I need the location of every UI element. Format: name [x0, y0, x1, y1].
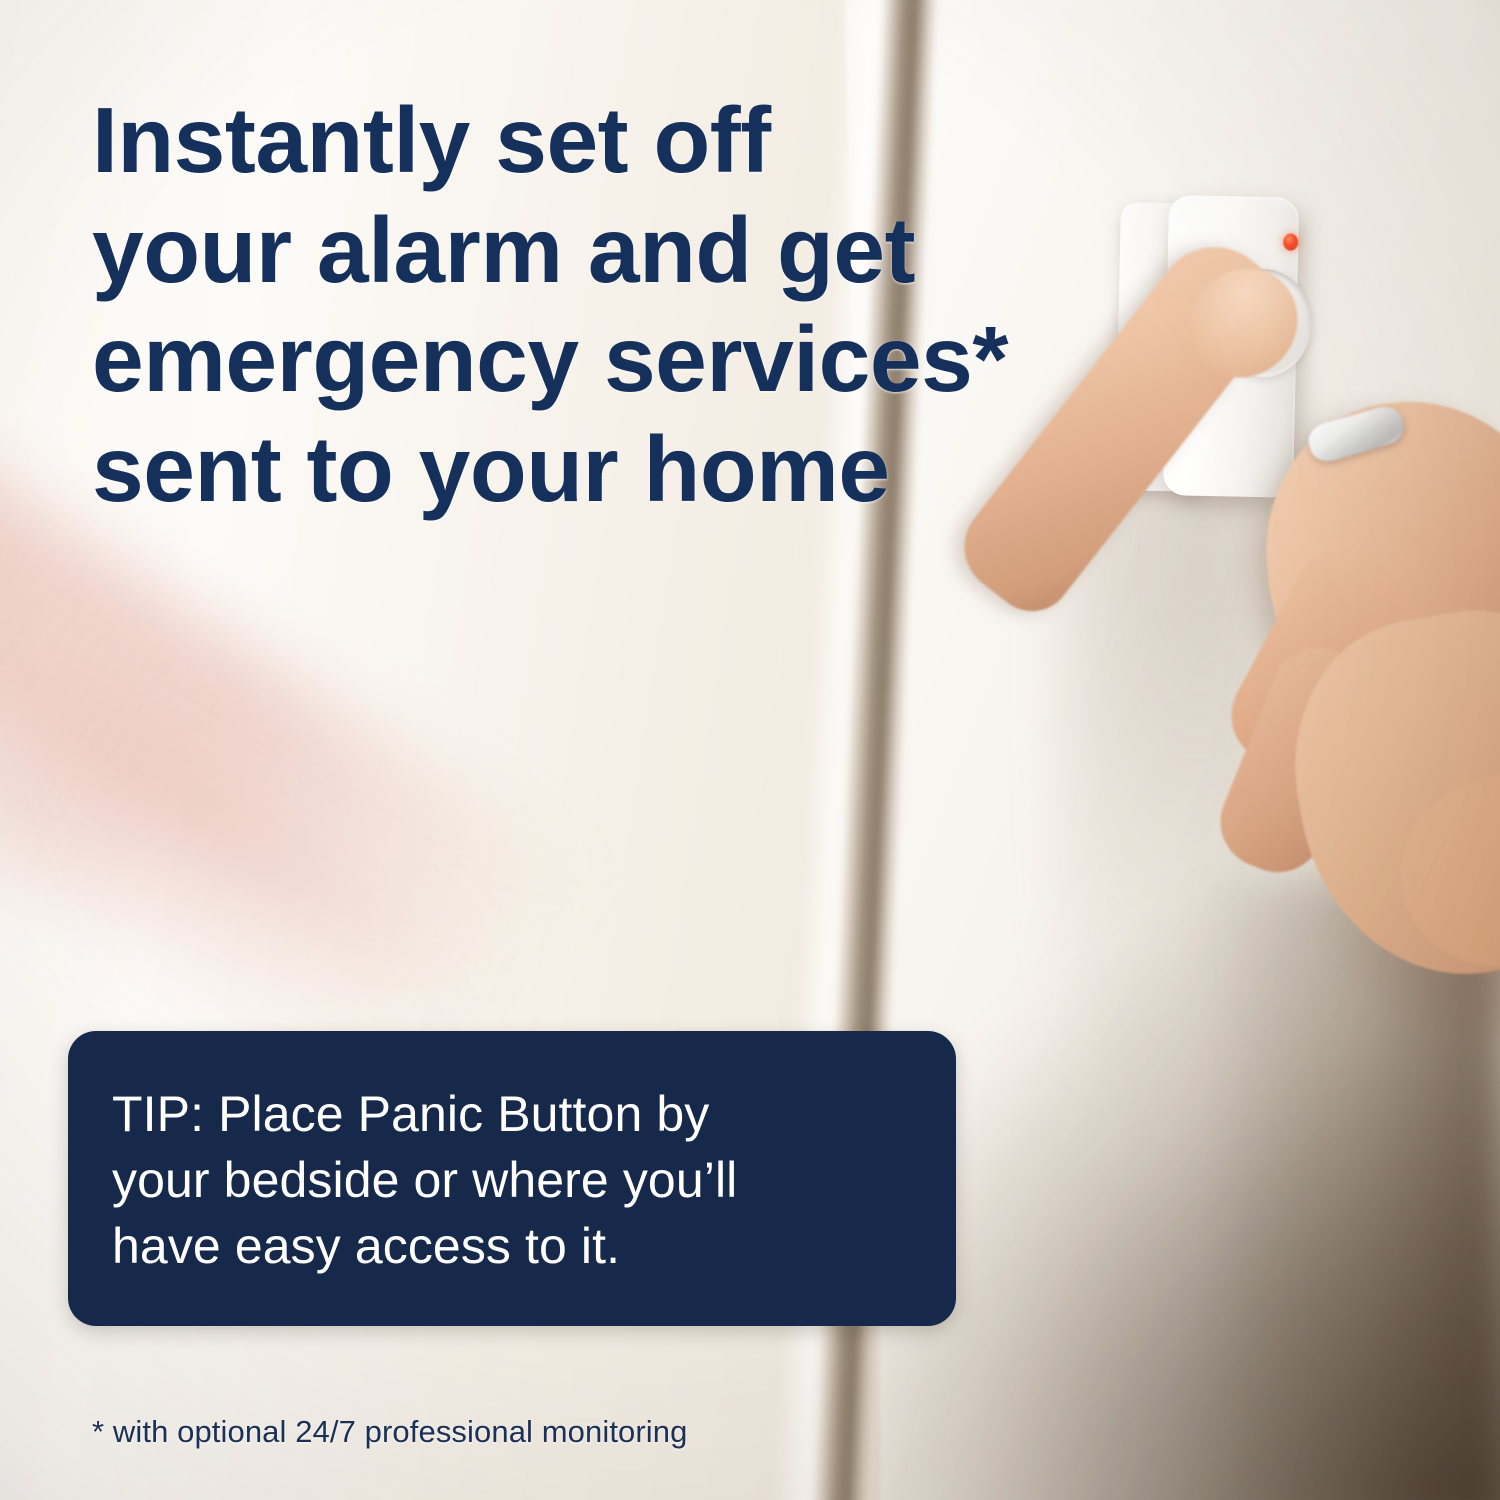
tip-card: TIP: Place Panic Button by your bedside … [68, 1031, 956, 1326]
tip-card-text: TIP: Place Panic Button by your bedside … [112, 1081, 922, 1279]
footnote-disclaimer: * with optional 24/7 professional monito… [92, 1414, 687, 1450]
promo-image-canvas: Instantly set off your alarm and get eme… [0, 0, 1500, 1500]
page-title: Instantly set off your alarm and get eme… [92, 86, 1102, 525]
